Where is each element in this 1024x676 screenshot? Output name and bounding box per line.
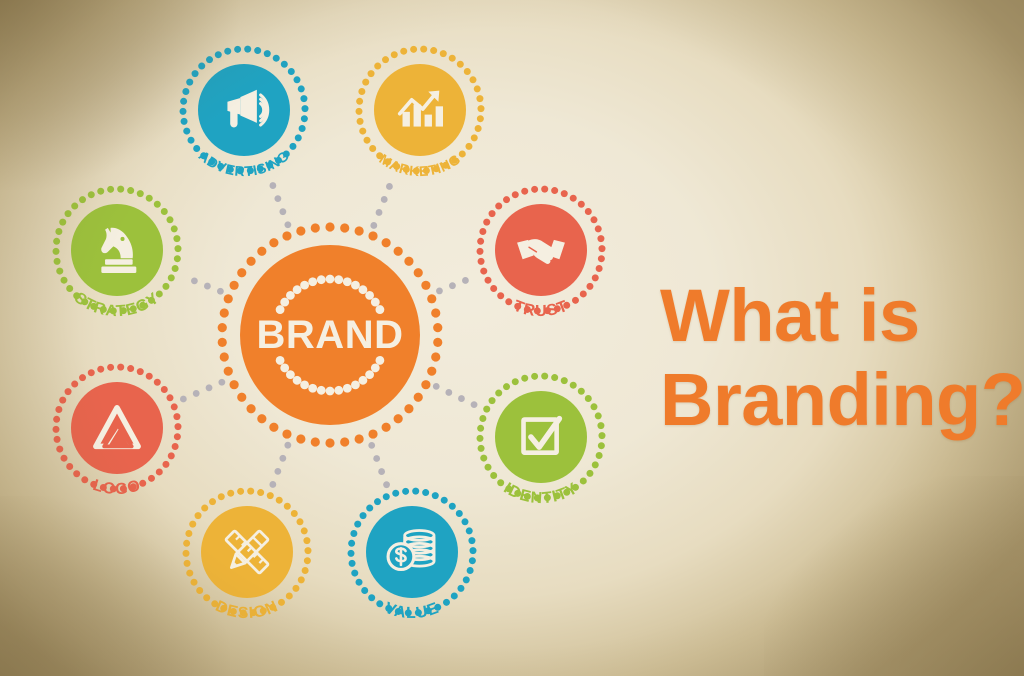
page-title-line-1: What is — [660, 278, 1020, 354]
page-title-line-2: Branding? — [660, 362, 1020, 438]
branding-infographic: ADVERTISINGMARKETINGTRUSTIDENTITYVALUEDE… — [0, 0, 1024, 676]
page-title: What is Branding? — [660, 278, 1020, 438]
